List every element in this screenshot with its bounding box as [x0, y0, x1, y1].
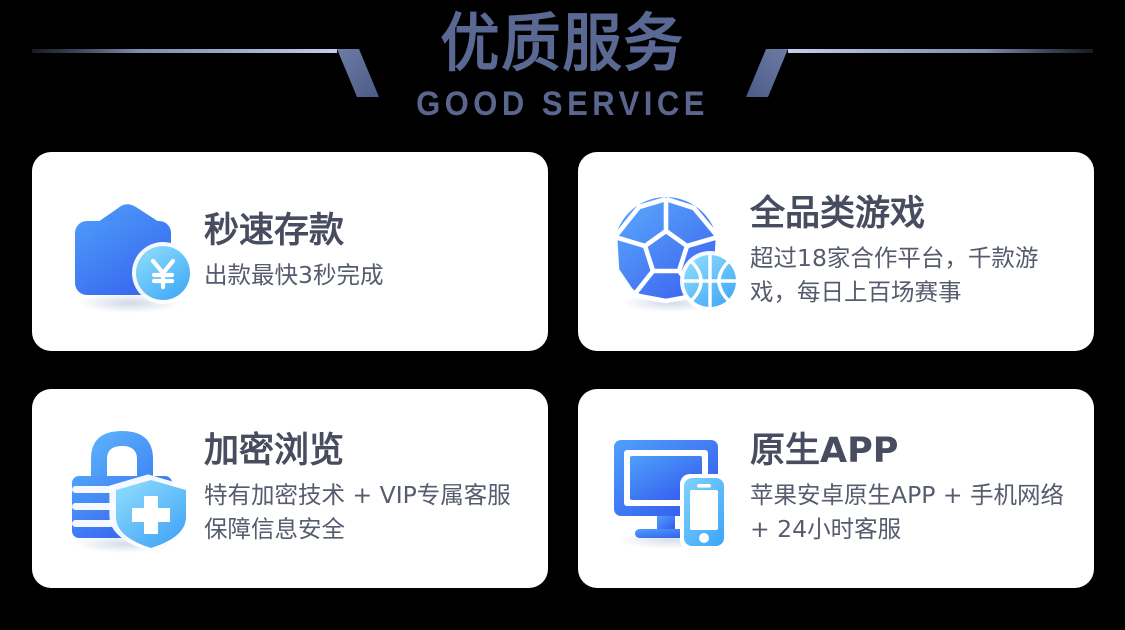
lock-shield-icon: [58, 418, 200, 560]
card-title: 加密浏览: [204, 431, 530, 472]
card-description: 超过18家合作平台，千款游戏，每日上百场赛事: [750, 242, 1076, 309]
card-description: 特有加密技术 + VIP专属客服保障信息安全: [204, 479, 530, 546]
card-text-block: 加密浏览 特有加密技术 + VIP专属客服保障信息安全: [200, 431, 530, 546]
card-title: 原生APP: [750, 431, 1076, 472]
card-text-block: 全品类游戏 超过18家合作平台，千款游戏，每日上百场赛事: [746, 194, 1076, 309]
feature-card-native-app[interactable]: 原生APP 苹果安卓原生APP + 手机网络 + 24小时客服: [578, 389, 1094, 588]
page-title: 优质服务: [34, 8, 1092, 80]
card-description: 出款最快3秒完成: [204, 259, 530, 292]
card-description: 苹果安卓原生APP + 手机网络 + 24小时客服: [750, 479, 1076, 546]
page-header: 优质服务 GOOD SERVICE: [0, 0, 1125, 152]
page-subtitle: GOOD SERVICE: [0, 84, 1125, 124]
monitor-phone-icon: [604, 418, 746, 560]
feature-card-encrypted-browsing[interactable]: 加密浏览 特有加密技术 + VIP专属客服保障信息安全: [32, 389, 548, 588]
feature-card-grid: 秒速存款 出款最快3秒完成: [32, 152, 1094, 588]
card-text-block: 秒速存款 出款最快3秒完成: [200, 211, 530, 293]
feature-card-all-category-games[interactable]: 全品类游戏 超过18家合作平台，千款游戏，每日上百场赛事: [578, 152, 1094, 351]
soccer-basketball-icon: [604, 181, 746, 323]
card-text-block: 原生APP 苹果安卓原生APP + 手机网络 + 24小时客服: [746, 431, 1076, 546]
card-title: 全品类游戏: [750, 194, 1076, 235]
wallet-yen-icon: [58, 181, 200, 323]
card-title: 秒速存款: [204, 211, 530, 252]
feature-card-fast-deposit[interactable]: 秒速存款 出款最快3秒完成: [32, 152, 548, 351]
title-block: 优质服务 GOOD SERVICE: [0, 8, 1125, 122]
